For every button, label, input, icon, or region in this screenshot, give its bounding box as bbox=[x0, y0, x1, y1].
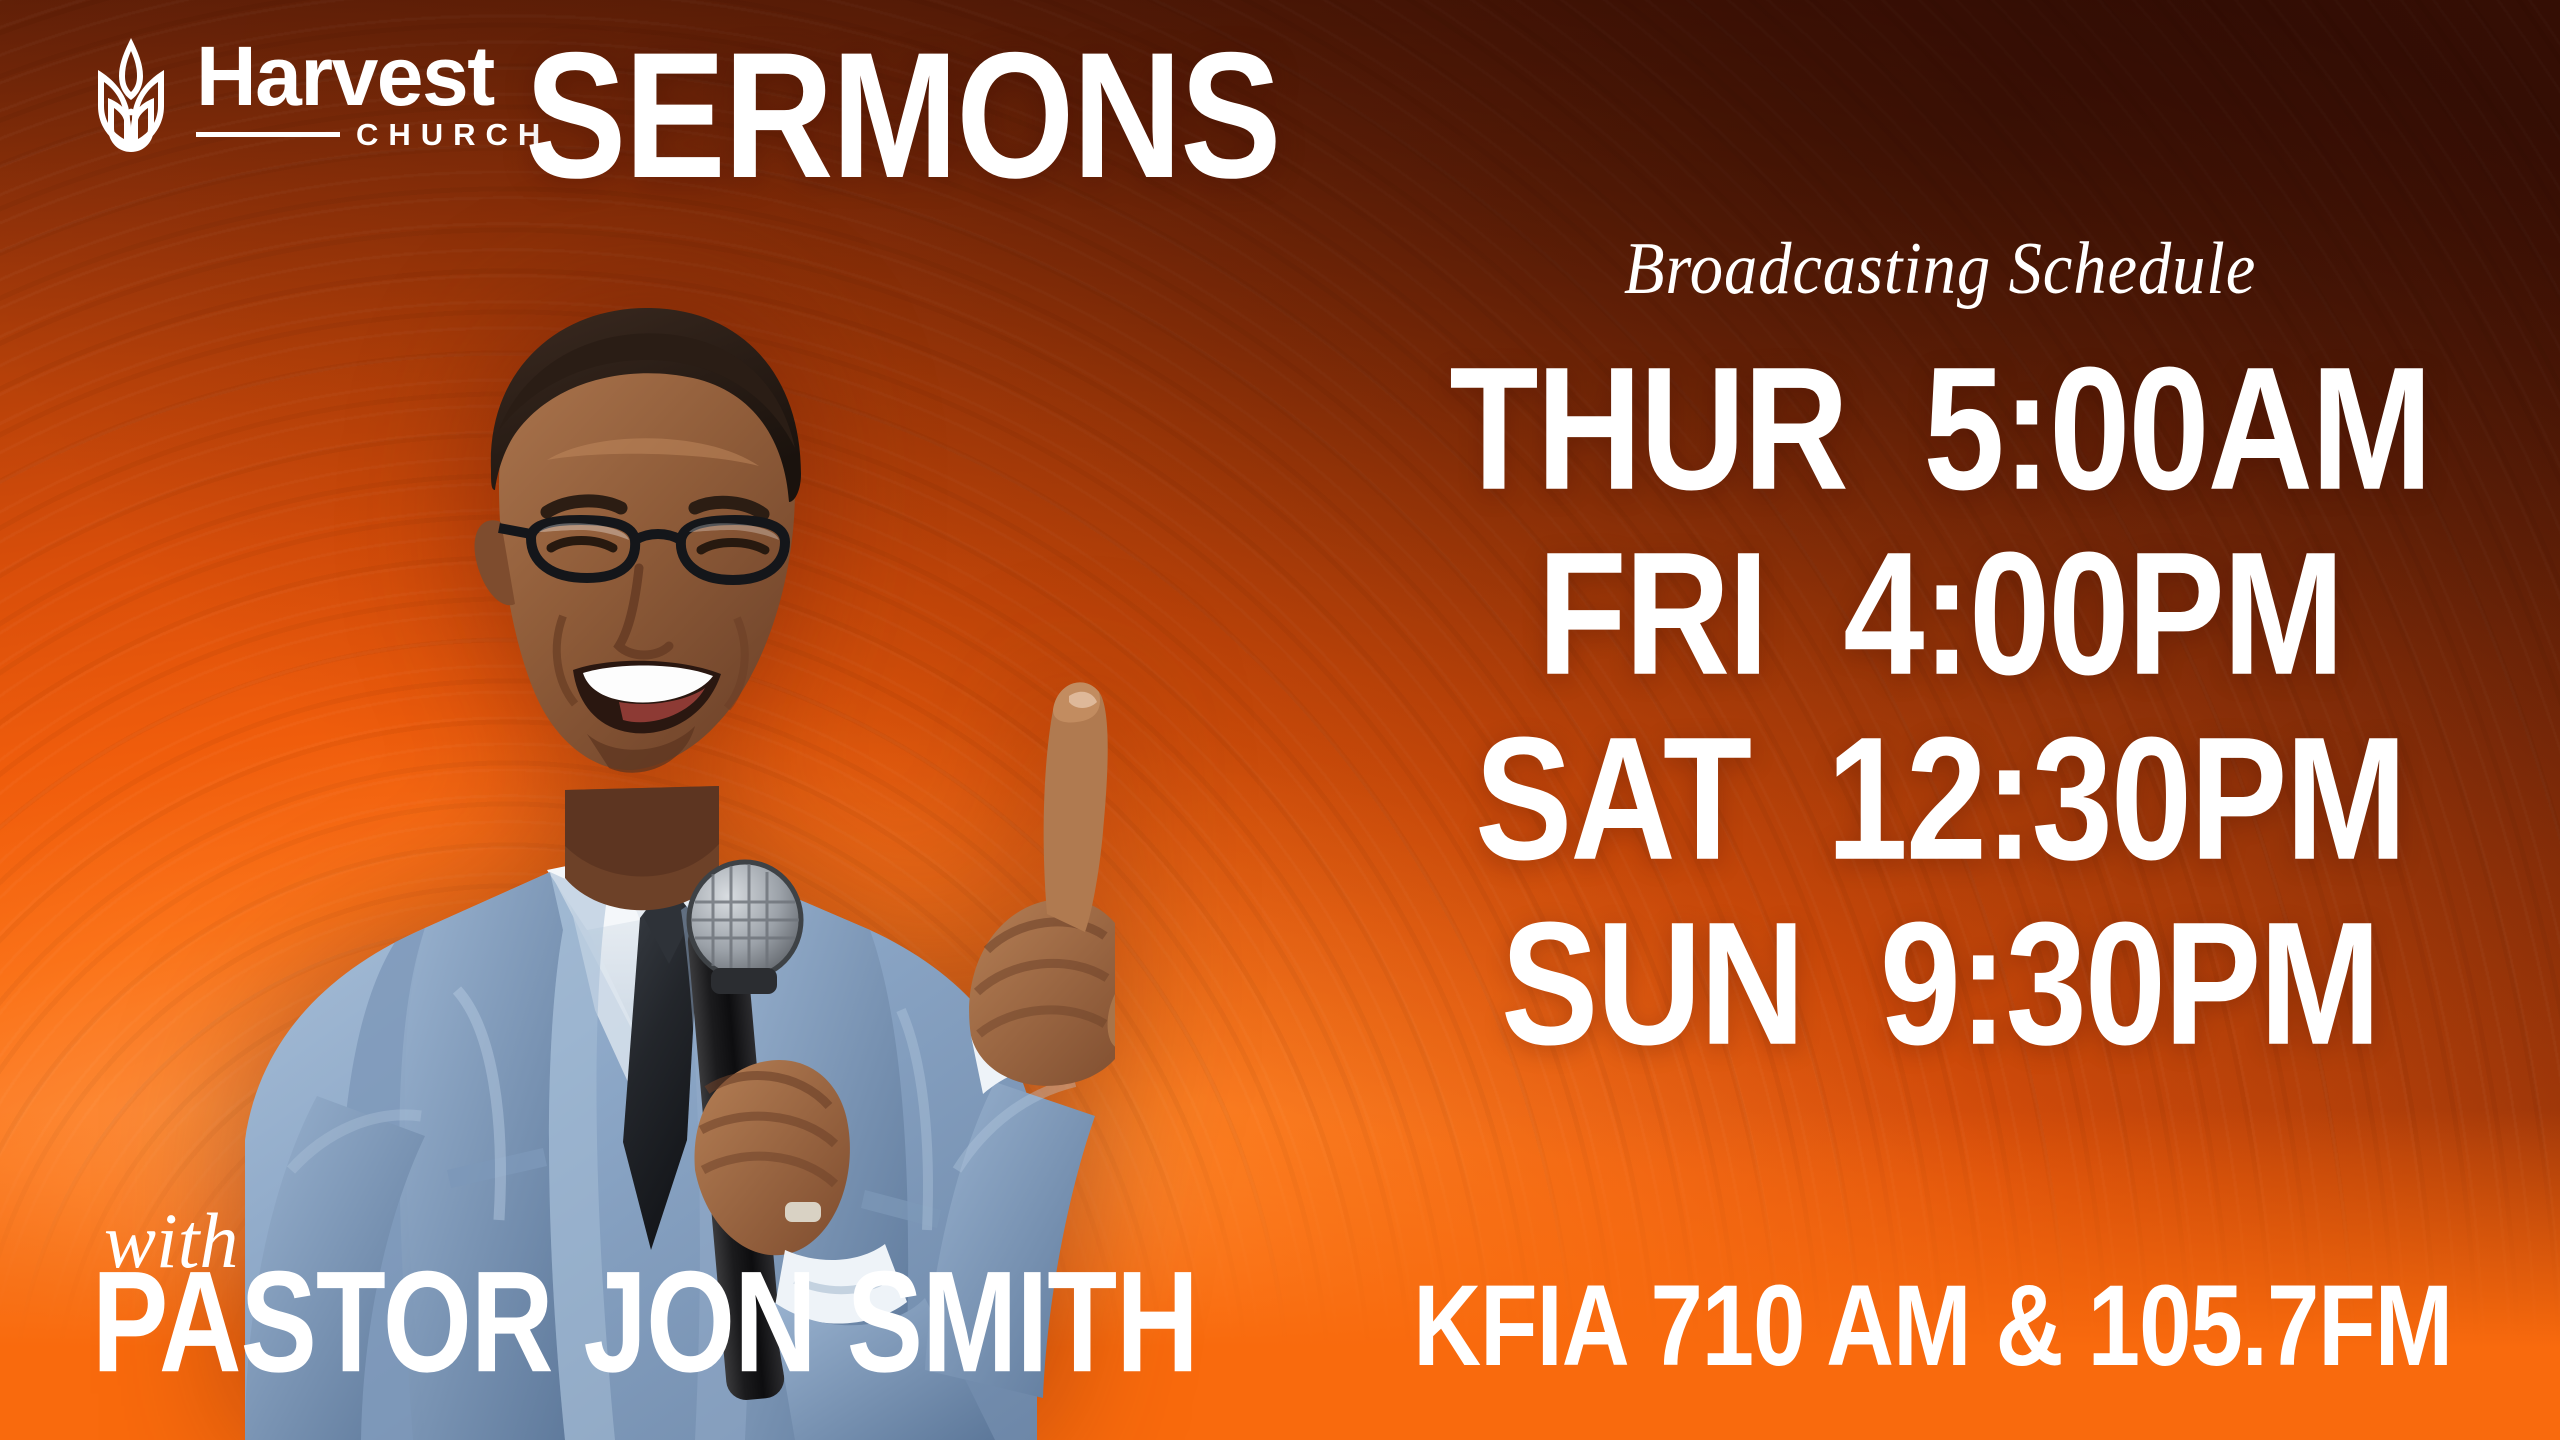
speaker-name: PASTOR JON SMITH bbox=[92, 1254, 1198, 1392]
wheat-sheaf-icon bbox=[92, 34, 170, 152]
schedule-day: SUN bbox=[1501, 885, 1803, 1081]
brand-name: Harvest bbox=[196, 40, 550, 112]
schedule-day: THUR bbox=[1449, 330, 1847, 526]
broadcasting-schedule: Broadcasting Schedule THUR 5:00AM FRI 4:… bbox=[1440, 232, 2440, 1080]
schedule-row: THUR 5:00AM bbox=[1440, 340, 2440, 519]
schedule-time: 12:30PM bbox=[1827, 700, 2405, 896]
photo-head bbox=[474, 308, 801, 773]
brand-lockup: Harvest CHURCH bbox=[92, 34, 550, 152]
brand-divider-rule bbox=[196, 132, 340, 137]
schedule-day: FRI bbox=[1538, 515, 1767, 711]
brand-text: Harvest CHURCH bbox=[196, 40, 550, 149]
schedule-time: 5:00AM bbox=[1923, 330, 2430, 526]
radio-station-info: KFIA 710 AM & 105.7FM bbox=[1413, 1269, 2452, 1384]
brand-subtitle: CHURCH bbox=[356, 119, 550, 150]
sermons-promo-poster: Harvest CHURCH SERMONS Broadcasting Sche… bbox=[0, 0, 2560, 1440]
brand-sub-row: CHURCH bbox=[196, 119, 550, 150]
schedule-row: FRI 4:00PM bbox=[1440, 525, 2440, 704]
schedule-time: 4:00PM bbox=[1843, 515, 2342, 711]
schedule-heading: Broadcasting Schedule bbox=[1490, 232, 2390, 306]
speaker-credit: with PASTOR JON SMITH bbox=[92, 1205, 1232, 1392]
page-title: SERMONS bbox=[525, 26, 1280, 205]
schedule-day: SAT bbox=[1475, 700, 1750, 896]
schedule-time: 9:30PM bbox=[1880, 885, 2379, 1081]
schedule-row: SAT 12:30PM bbox=[1440, 710, 2440, 889]
schedule-row: SUN 9:30PM bbox=[1440, 895, 2440, 1074]
